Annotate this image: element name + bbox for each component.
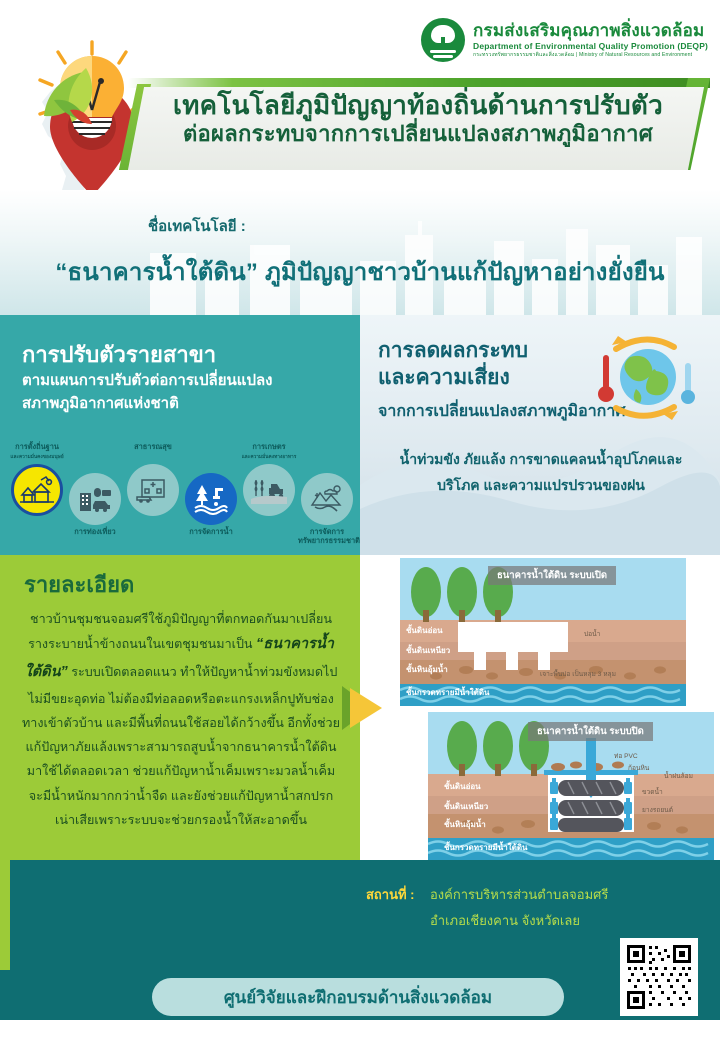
title-banner: เทคโนโลยีภูมิปัญญาท้องถิ่นด้านการปรับตัว… [128,78,710,170]
poster-title-line1: เทคโนโลยีภูมิปัญญาท้องถิ่นด้านการปรับตัว [156,90,680,121]
sector-label: การตั้งถิ่นฐาน [8,443,66,452]
technology-label: ชื่อเทคโนโลยี : [148,214,246,238]
diagram-callout: บ่อน้ำ [584,628,600,639]
org-ministry: กระทรวงทรัพยากรธรรมชาติและสิ่งแวดล้อม | … [473,53,708,58]
sector-sublabel: ทรัพยากรธรรมชาติ [298,537,356,546]
sector-item-agriculture[interactable]: การเกษตร และความมั่นคงทางอาหาร [240,443,298,516]
diagram-callout: ก้อนหิน [628,762,649,773]
adaptation-subheading: ตามแผนการปรับตัวต่อการเปลี่ยนแปลง สภาพภู… [22,369,352,416]
sector-icon-row: การตั้งถิ่นฐาน และความมั่นคงของมนุษย์ [4,443,360,551]
soil-layer-label: ชั้นหินอุ้มน้ำ [406,663,448,676]
hospital-ambulance-icon [127,464,179,516]
mitigation-risks: น้ำท่วมขัง ภัยแล้ง การขาดแคลนน้ำอุปโภคแล… [376,447,706,499]
soil-layer-label: ชั้นกรวดทรายมีน้ำใต้ดิน [406,686,489,699]
sector-item-tourism[interactable]: การท่องเที่ยว [66,473,124,537]
qr-code-icon[interactable] [620,938,698,1016]
soil-layer-label: ชั้นดินเหนียว [406,644,450,657]
sector-label: การเกษตร [240,443,298,452]
sector-sublabel: และความมั่นคงทางอาหาร [240,455,298,460]
deqp-tree-water-logo-icon [421,18,465,62]
center-name-pill: ศูนย์วิจัยและฝึกอบรมด้านสิ่งแวดล้อม [152,978,564,1016]
deqp-logo: กรมส่งเสริมคุณภาพสิ่งแวดล้อม Department … [421,18,708,62]
technology-name: “ธนาคารน้ำใต้ดิน” ภูมิปัญญาชาวบ้านแก้ปัญ… [0,252,720,291]
adaptation-panel: การปรับตัวรายสาขา ตามแผนการปรับตัวต่อการ… [0,315,360,555]
poster-title-line2: ต่อผลกระทบจากการเปลี่ยนแปลงสภาพภูมิอากาศ [156,121,680,147]
sector-item-natural-resources[interactable]: การจัดการ ทรัพยากรธรรมชาติ [298,473,356,545]
sector-sublabel: และความมั่นคงของมนุษย์ [8,455,66,460]
location-label: สถานที่ : [366,884,415,905]
natural-resources-mountain-icon [301,473,353,525]
diagram-open-system: ธนาคารน้ำใต้ดิน ระบบเปิด ชั้นดินอ่อน ชั้… [400,558,686,706]
qr-caption: ข้อมูลเพิ่มเติม [620,1019,698,1033]
globe-thermometer-climate-icon [586,327,706,427]
mitigation-heading: การลดผลกระทบ และความเสี่ยง [378,337,528,392]
details-heading: รายละเอียด [24,567,134,602]
diagram-callout: ขวดน้ำ [642,786,663,797]
location-line1: องค์การบริหารส่วนตำบลจอมศรี [430,884,608,905]
agriculture-wheat-tractor-icon [243,464,295,516]
sector-item-water[interactable]: การจัดการน้ำ [182,473,240,537]
org-name-en: Department of Environmental Quality Prom… [473,42,708,51]
green-accent-strip [0,860,10,970]
soil-layer-label: ชั้นหินอุ้มน้ำ [444,818,486,831]
tourism-city-car-icon [69,473,121,525]
sector-item-settlement[interactable]: การตั้งถิ่นฐาน และความมั่นคงของมนุษย์ [8,443,66,516]
soil-layer-label: ชั้นดินอ่อน [406,624,443,637]
location-line2: อำเภอเชียงคาน จังหวัดเลย [430,910,580,931]
technology-name-band: ชื่อเทคโนโลยี : “ธนาคารน้ำใต้ดิน” ภูมิปั… [0,190,720,315]
diagram-callout: ยางรถยนต์ [642,804,673,815]
org-name-th: กรมส่งเสริมคุณภาพสิ่งแวดล้อม [473,22,708,40]
diagram-title: ธนาคารน้ำใต้ดิน ระบบเปิด [488,566,616,585]
infographic-poster: กรมส่งเสริมคุณภาพสิ่งแวดล้อม Department … [0,0,720,1040]
diagram-closed-system: ธนาคารน้ำใต้ดิน ระบบปิด ชั้นดินอ่อน ชั้น… [428,712,714,860]
diagram-title: ธนาคารน้ำใต้ดิน ระบบปิด [528,722,653,741]
diagram-callout: น้ำฝนล้อม [664,770,693,781]
details-text-after: ระบบเปิดตลอดแนว ทำให้ปัญหาน้ำท่วมขังหมดไ… [22,665,340,827]
adaptation-heading: การปรับตัวรายสาขา [22,337,216,372]
sector-item-health[interactable]: สาธารณสุข [124,443,182,516]
diagram-callout: เจาะพื้นบ่อ เป็นหลุม 3 หลุม [540,668,616,679]
diagram-callout: ท่อ PVC [614,750,638,761]
sector-label: การท่องเที่ยว [66,528,124,537]
details-body: ชาวบ้านชุมชนจอมศรีใช้ภูมิปัญญาที่ตกทอดกั… [22,607,340,832]
right-arrow-icon [338,680,394,736]
soil-layer-label: ชั้นดินเหนียว [444,800,488,813]
water-tap-river-icon [185,473,237,525]
sector-label: สาธารณสุข [124,443,182,452]
poster-header: กรมส่งเสริมคุณภาพสิ่งแวดล้อม Department … [0,0,720,190]
soil-layer-label: ชั้นดินอ่อน [444,780,481,793]
sector-label: การจัดการน้ำ [182,528,240,537]
soil-layer-label: ชั้นกรวดทรายมีน้ำใต้ดิน [444,841,527,854]
village-houses-icon [11,464,63,516]
mitigation-panel: การลดผลกระทบ และความเสี่ยง จากการเปลี่ยน… [360,315,720,555]
